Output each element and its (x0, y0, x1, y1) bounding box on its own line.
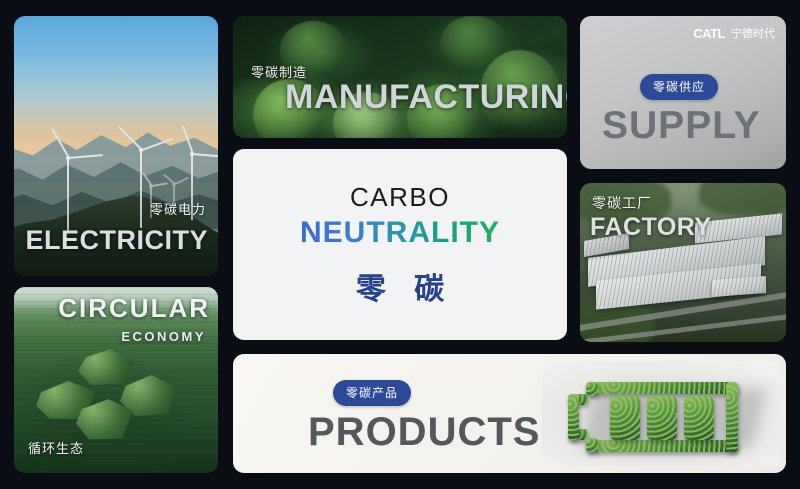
electricity-label-en: ELECTRICITY (25, 225, 208, 256)
battery-charge-bar (610, 396, 640, 440)
card-factory[interactable]: 零碳工厂 FACTORY (580, 183, 786, 342)
card-circular-economy[interactable]: CIRCULAR ECONOMY 循环生态 (14, 287, 218, 473)
factory-label-cn: 零碳工厂 (592, 193, 652, 213)
battery-charge-bar (647, 396, 677, 440)
card-manufacturing[interactable]: 零碳制造 MANUFACTURING (233, 16, 567, 138)
card-electricity[interactable]: 零碳电力 ELECTRICITY (14, 16, 218, 276)
tree-cluster (440, 16, 507, 70)
battery-outline (586, 382, 738, 394)
battery-outline (726, 382, 738, 452)
catl-logo: CATL 宁德时代 (693, 25, 775, 41)
battery-outline (586, 382, 598, 396)
catl-wordmark: CATL (693, 26, 725, 41)
supply-badge: 零碳供应 (640, 74, 718, 100)
circular-label-en: CIRCULAR (58, 293, 210, 324)
poster-canvas: 零碳电力 ELECTRICITY CIRCULAR ECONOMY 循环生态 零… (0, 0, 800, 489)
battery-charge-bar (684, 396, 714, 440)
factory-label-en: FACTORY (590, 213, 712, 242)
products-badge: 零碳产品 (333, 380, 411, 406)
green-area (699, 183, 786, 215)
green-battery-icon (542, 362, 780, 466)
circular-label-cn: 循环生态 (28, 438, 84, 457)
battery-outline (586, 438, 598, 452)
products-label-en: PRODUCTS (308, 410, 540, 455)
catl-logo-cn: 宁德时代 (731, 25, 775, 41)
carbo-headline: CARBO (350, 182, 450, 213)
card-supply[interactable]: CATL 宁德时代 零碳供应 SUPPLY (580, 16, 786, 169)
battery-outline (586, 440, 738, 452)
economy-label-en: ECONOMY (121, 329, 206, 344)
zero-carbon-headline-cn: 零 碳 (346, 264, 454, 308)
electricity-label-cn: 零碳电力 (150, 199, 206, 218)
neutrality-headline: NEUTRALITY (300, 216, 500, 250)
card-carbon-neutrality[interactable]: CARBO NEUTRALITY 零 碳 (233, 149, 567, 340)
supply-label-en: SUPPLY (602, 104, 760, 148)
card-products[interactable]: 零碳产品 PRODUCTS (233, 354, 786, 473)
wind-turbine-icon (46, 156, 90, 231)
battery-terminal (568, 394, 579, 440)
recycling-tree-formation-icon (36, 347, 184, 452)
manufacturing-label-en: MANUFACTURING (285, 78, 567, 117)
